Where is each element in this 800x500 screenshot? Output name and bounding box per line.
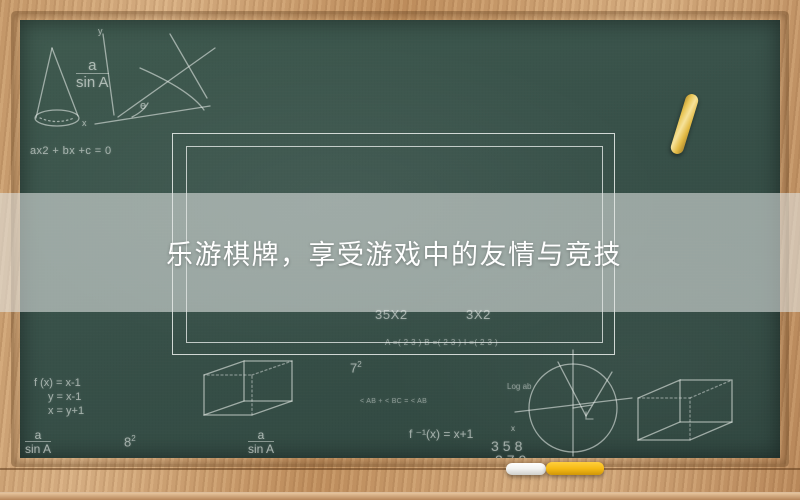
addition-addend-2: 279 (495, 452, 530, 458)
yellow-chalk-stick-ledge (546, 462, 604, 475)
log-ab-label: Log ab (507, 382, 531, 391)
fraction-a-over-sinA-2: a sin A (25, 429, 51, 455)
cube-wireframe-right (638, 380, 732, 440)
fraction-a-over-sinA-3: a sin A (248, 429, 274, 455)
angle-sum-expression: < AB + < BC = < AB (360, 398, 427, 405)
banner-image: a sin A y x ө ax2 + bx +c = 0 (0, 0, 800, 500)
seven-squared: 72 (350, 360, 362, 375)
function-line-1: f (x) = x-1 (34, 377, 81, 389)
circle-axis-label-x: x (511, 424, 515, 433)
chalk-ledge (0, 468, 800, 500)
ledge-lip (0, 492, 800, 500)
circle-radius-diagram (515, 350, 632, 456)
cube-wireframe-left (204, 361, 292, 415)
function-line-2: y = x-1 (48, 391, 81, 403)
page-title: 乐游棋牌，享受游戏中的友情与竞技 (166, 233, 622, 272)
title-overlay-band: 乐游棋牌，享受游戏中的友情与竞技 (0, 193, 800, 312)
function-line-3: x = y+1 (48, 405, 84, 417)
inverse-function: f ⁻¹(x) = x+1 (409, 427, 473, 441)
eight-squared: 82 (124, 434, 136, 449)
white-chalk-stick-ledge (506, 463, 546, 475)
